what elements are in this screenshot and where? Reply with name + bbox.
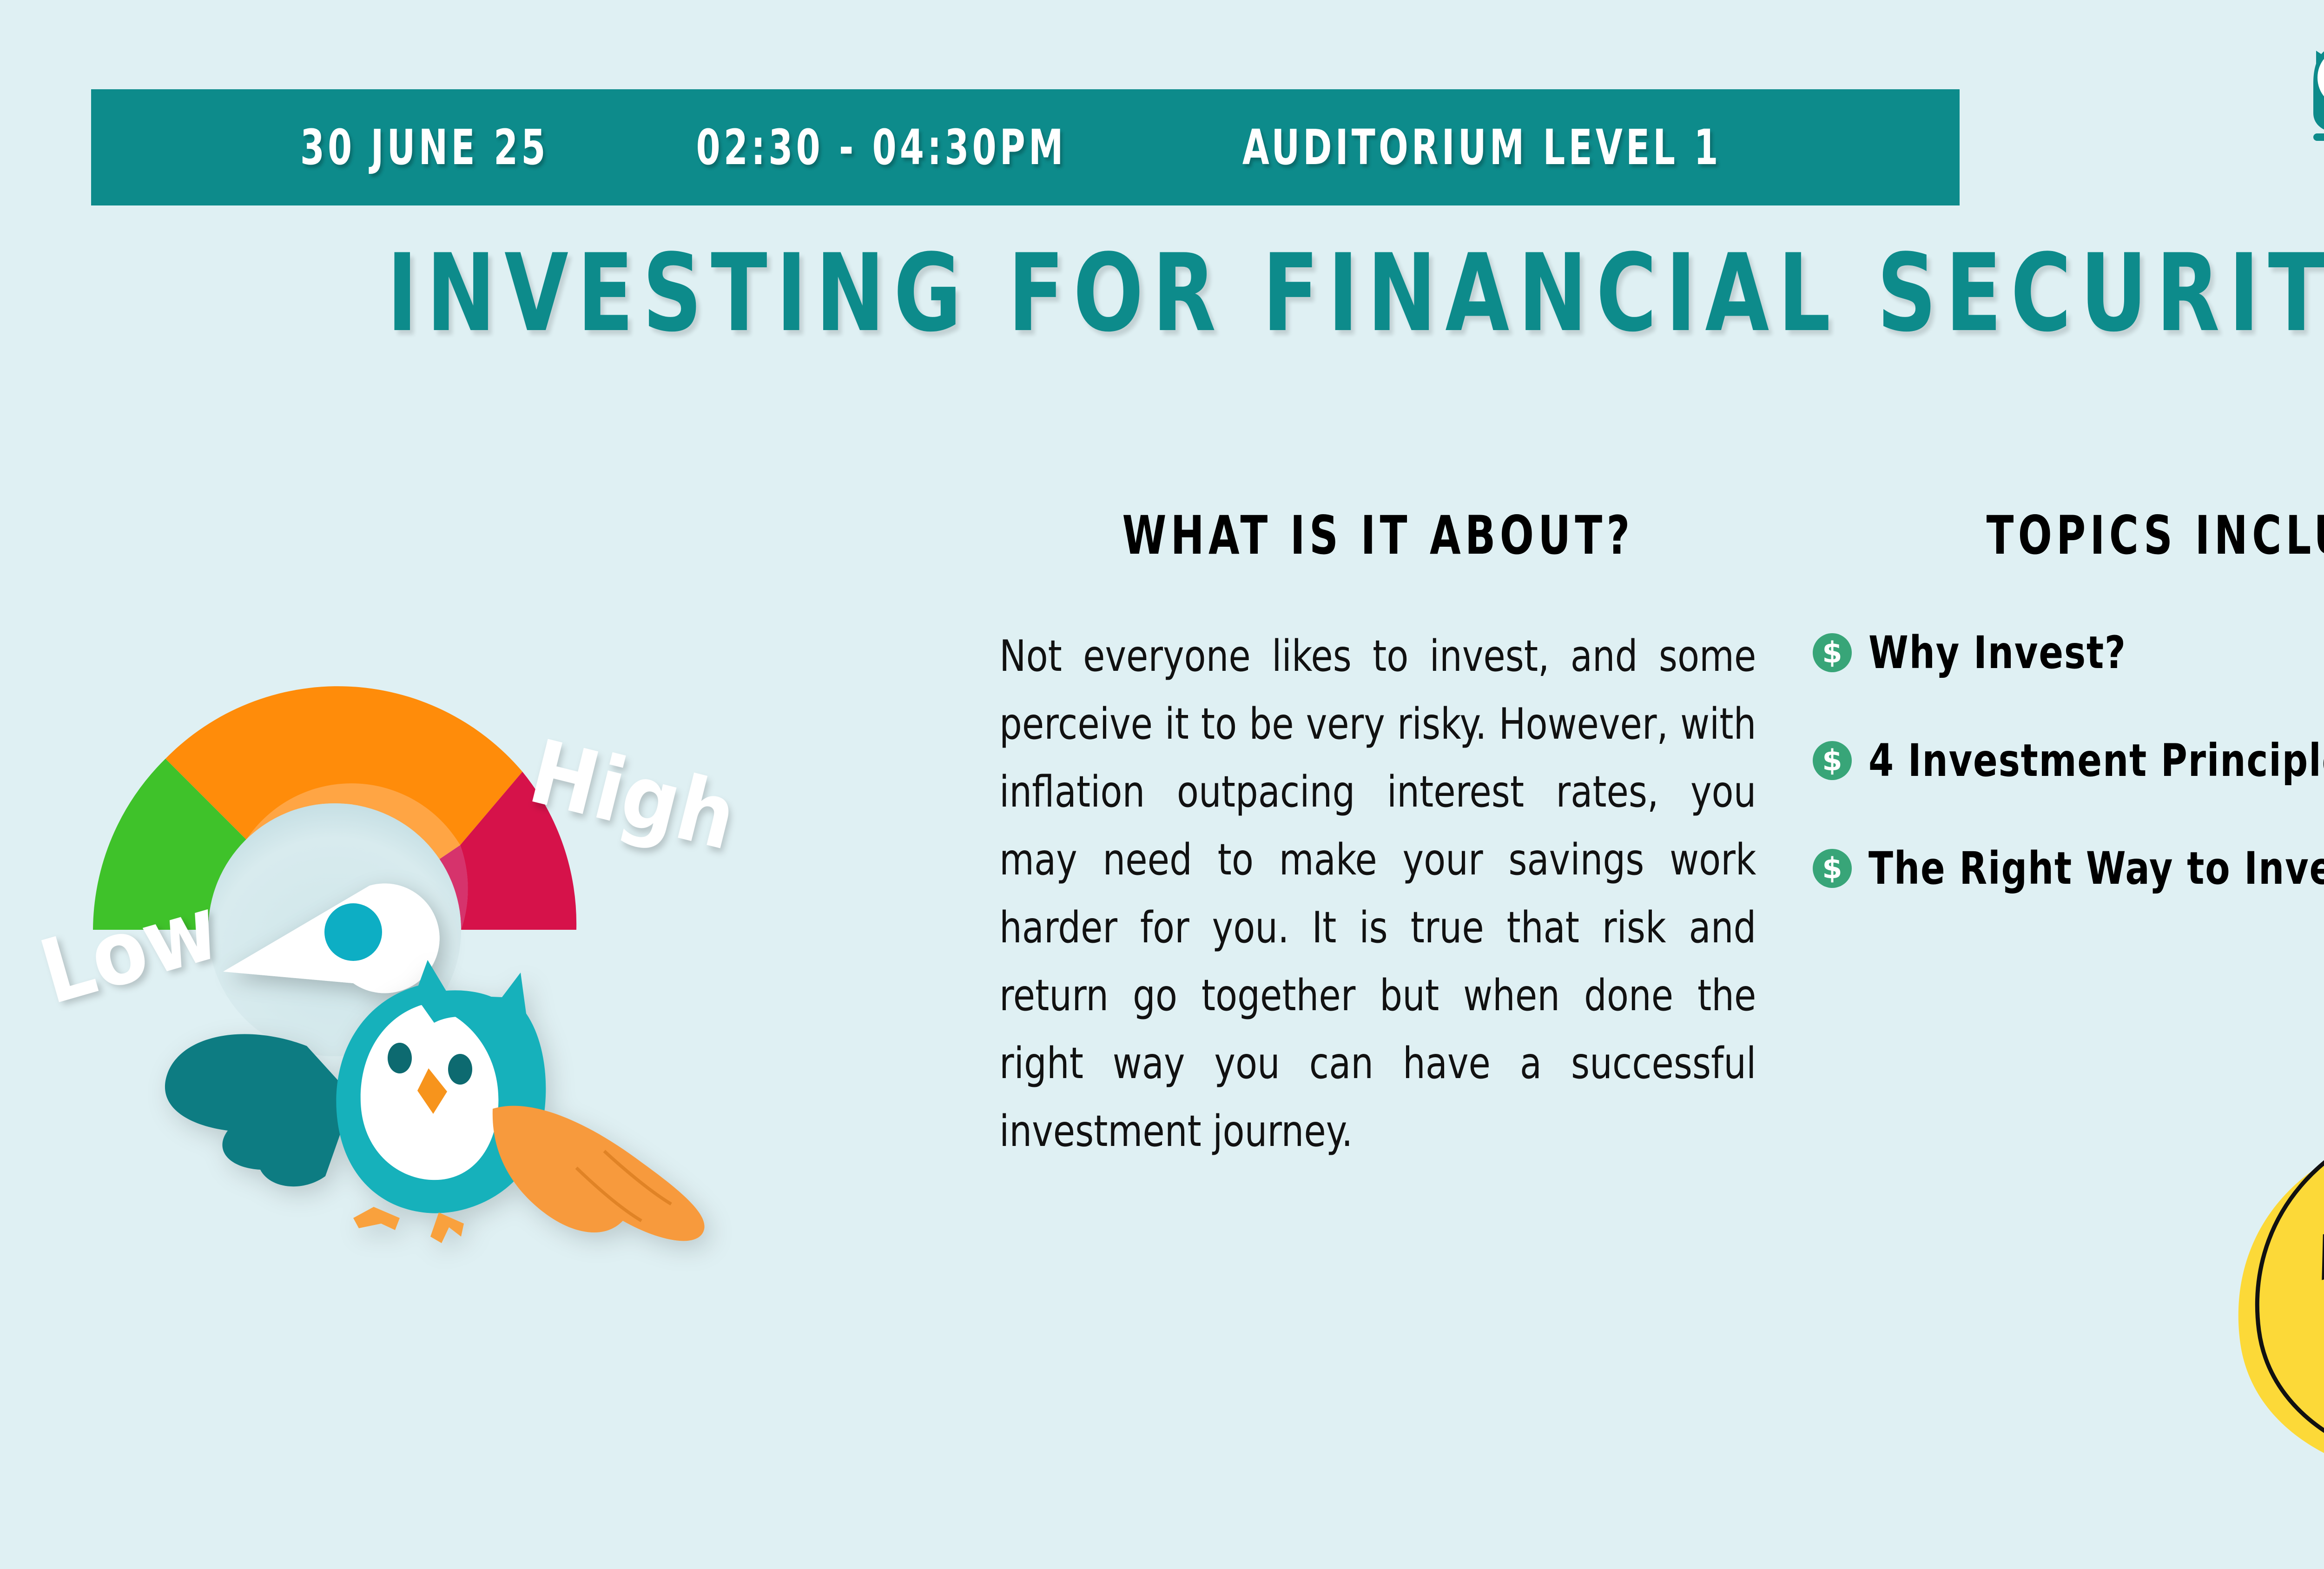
risk-gauge-illustration: Low High: [28, 493, 990, 1311]
event-info-banner: 30 JUNE 25 02:30 - 04:30PM AUDITORIUM LE…: [91, 89, 1960, 205]
topics-section: TOPICS INCLUDE $ Why Invest? $ 4 Investm…: [1785, 504, 2324, 950]
topic-label: The Right Way to Invest: [1868, 842, 2324, 894]
event-time: 02:30 - 04:30PM: [696, 119, 1066, 176]
dollar-icon: $: [1813, 849, 1852, 888]
moneyowl-logo: MoneyOwl By Temasek Trust: [2308, 35, 2324, 149]
list-item: $ The Right Way to Invest: [1813, 842, 2324, 894]
about-section: WHAT IS IT ABOUT? Not everyone likes to …: [999, 504, 1757, 1208]
dollar-icon: $: [1813, 633, 1852, 672]
about-heading: WHAT IS IT ABOUT?: [1060, 504, 1696, 566]
list-item: $ Why Invest?: [1813, 627, 2324, 679]
bubble-fill: [2238, 1125, 2324, 1546]
event-venue: AUDITORIUM LEVEL 1: [1242, 119, 1722, 176]
topic-label: Why Invest?: [1868, 627, 2126, 679]
about-body-text: Not everyone likes to invest, and some p…: [999, 622, 1756, 1165]
page-title: INVESTING FOR FINANCIAL SECURITY: [195, 232, 2324, 356]
owl-icon: [2308, 35, 2324, 149]
event-date: 30 JUNE 25: [300, 119, 549, 176]
topics-list: $ Why Invest? $ 4 Investment Principles …: [1813, 627, 2324, 894]
topic-label: 4 Investment Principles: [1868, 735, 2324, 787]
gauge-low-label: Low: [29, 876, 229, 1024]
list-item: $ 4 Investment Principles: [1813, 735, 2324, 787]
all-are-welcome-bubble: ALL ARE WELCOME!: [2171, 1074, 2324, 1567]
topics-heading: TOPICS INCLUDE: [1852, 504, 2324, 566]
dollar-icon: $: [1813, 741, 1852, 780]
